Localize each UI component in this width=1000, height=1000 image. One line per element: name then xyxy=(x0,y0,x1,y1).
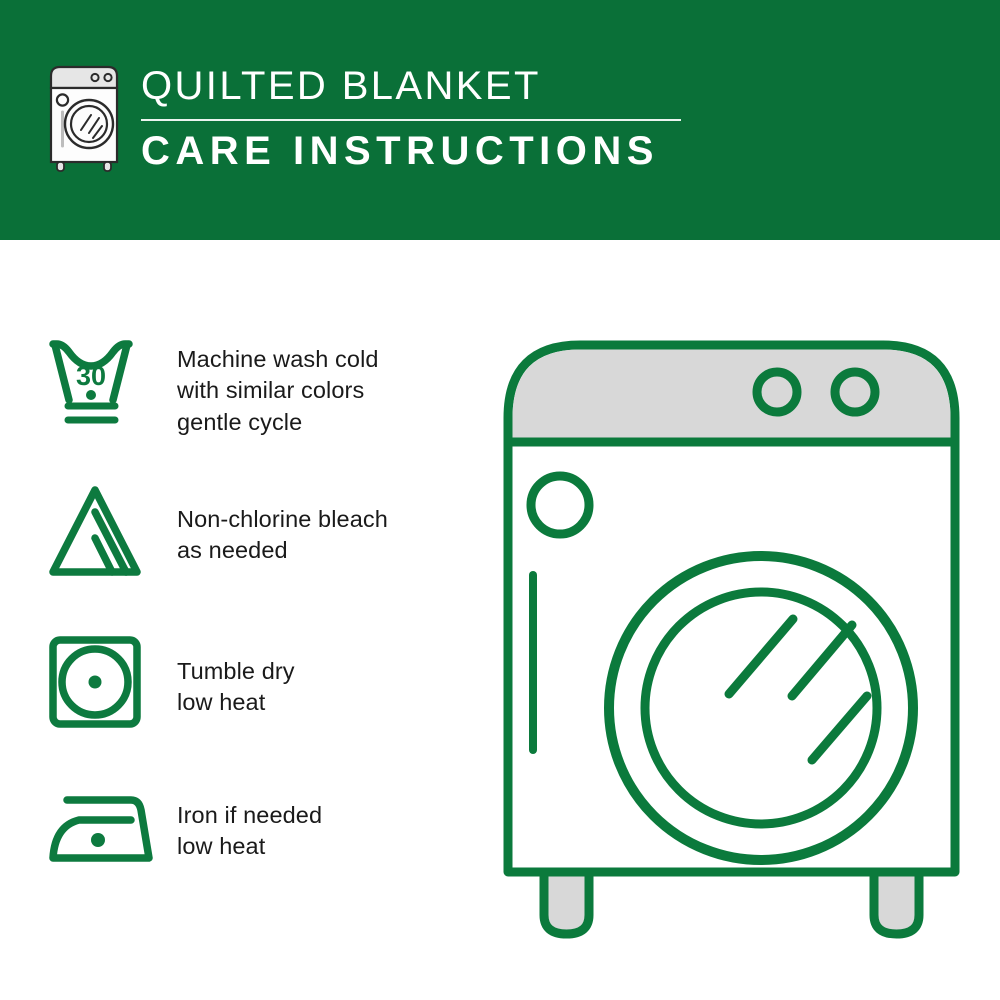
care-text-line: Tumble dry xyxy=(177,656,475,687)
care-text-line: low heat xyxy=(177,831,475,862)
wash-temperature-label: 30 xyxy=(76,361,106,391)
control-panel xyxy=(513,350,951,443)
header-content: QUILTED BLANKET CARE INSTRUCTIONS xyxy=(45,62,681,174)
iron-low-heat-icon xyxy=(45,780,177,884)
title-divider xyxy=(141,119,681,121)
page-title: QUILTED BLANKET xyxy=(141,66,681,106)
wash-tub-30-gentle-icon: 30 xyxy=(45,330,177,434)
care-row-iron: Iron if needed low heat xyxy=(45,780,475,888)
care-text-line: gentle cycle xyxy=(177,407,475,438)
care-row-tumble-dry: Tumble dry low heat xyxy=(45,632,475,740)
care-text-line: Iron if needed xyxy=(177,800,475,831)
leg-left xyxy=(544,872,589,934)
leg-right xyxy=(874,872,919,934)
care-instruction-list: 30 Machine wash cold with similar colors… xyxy=(45,330,475,888)
care-text-line: with similar colors xyxy=(177,375,475,406)
care-text-tumble-dry: Tumble dry low heat xyxy=(177,632,475,719)
page-subtitle: CARE INSTRUCTIONS xyxy=(141,131,681,171)
care-text-bleach: Non-chlorine bleach as needed xyxy=(177,482,475,567)
care-text-line: low heat xyxy=(177,687,475,718)
tumble-dry-low-heat-icon xyxy=(45,632,177,736)
header-banner: QUILTED BLANKET CARE INSTRUCTIONS xyxy=(0,0,1000,240)
care-text-wash: Machine wash cold with similar colors ge… xyxy=(177,330,475,438)
front-load-washing-machine-illustration xyxy=(480,320,980,940)
care-text-line: Machine wash cold xyxy=(177,344,475,375)
care-row-wash: 30 Machine wash cold with similar colors… xyxy=(45,330,475,438)
washing-machine-logo-icon xyxy=(45,62,123,174)
non-chlorine-bleach-triangle-icon xyxy=(45,482,177,586)
care-text-iron: Iron if needed low heat xyxy=(177,780,475,863)
care-text-line: Non-chlorine bleach xyxy=(177,504,475,535)
care-row-bleach: Non-chlorine bleach as needed xyxy=(45,482,475,590)
care-text-line: as needed xyxy=(177,535,475,566)
header-title-block: QUILTED BLANKET CARE INSTRUCTIONS xyxy=(141,62,681,171)
